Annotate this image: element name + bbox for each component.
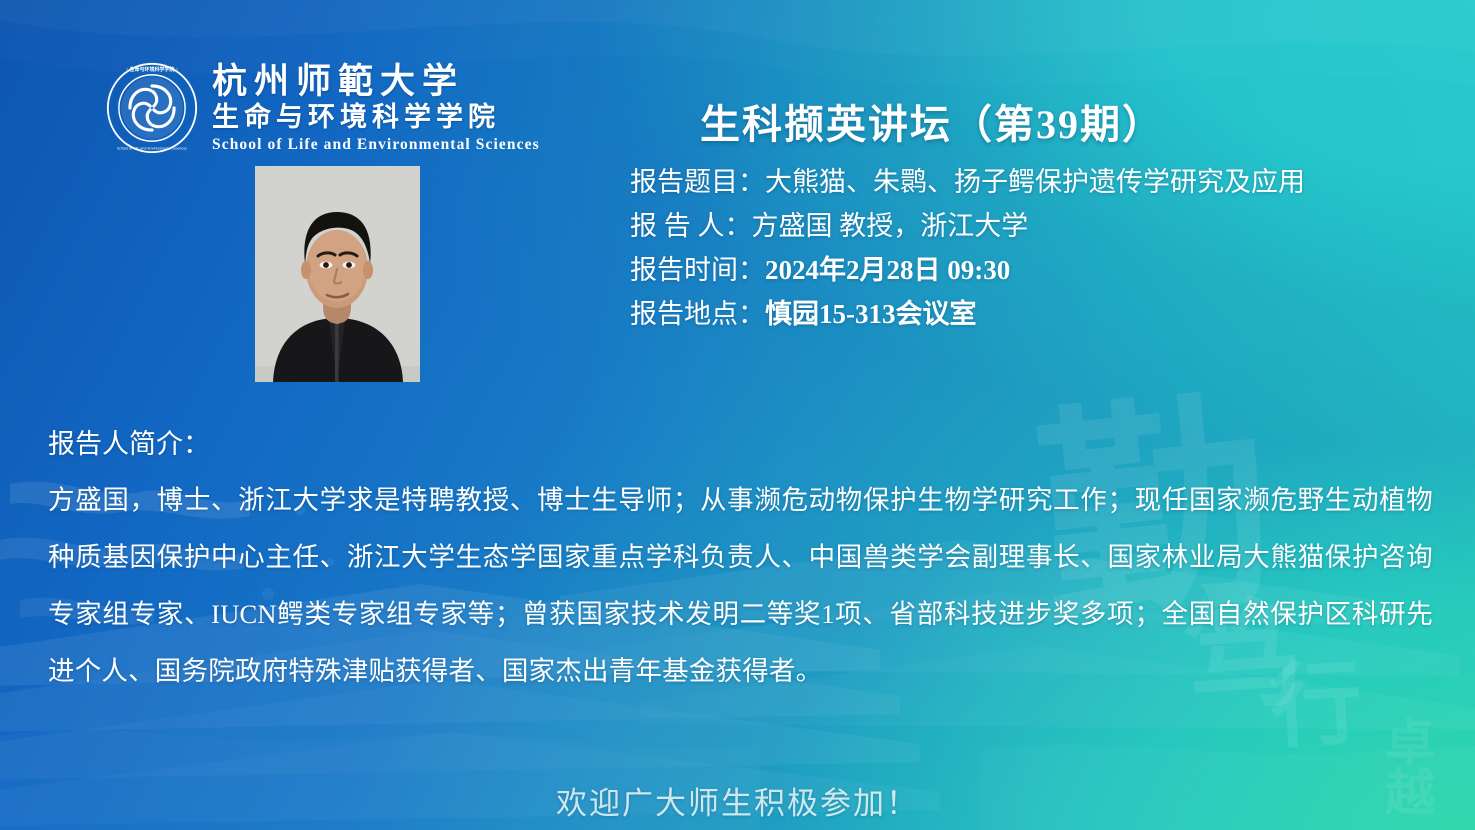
logo-university-name: 杭州师範大学 xyxy=(212,64,540,99)
info-label-location: 报告地点： xyxy=(630,299,765,329)
lecture-info: 报告题目：大熊猫、朱鹮、扬子鳄保护遗传学研究及应用 报 告 人：方盛国 教授，浙… xyxy=(630,160,1460,336)
svg-text:School of Life and Environment: School of Life and Environmental Science… xyxy=(117,146,187,150)
info-label-speaker: 报 告 人： xyxy=(630,211,752,241)
logo-school-name-en: School of Life and Environmental Science… xyxy=(212,137,540,153)
info-value-speaker: 方盛国 教授，浙江大学 xyxy=(752,211,1029,241)
bio-heading: 报告人简介： xyxy=(48,422,210,461)
svg-text:· 生命与环境科学学院 ·: · 生命与环境科学学院 · xyxy=(126,66,178,73)
info-row-topic: 报告题目：大熊猫、朱鹮、扬子鳄保护遗传学研究及应用 xyxy=(630,160,1460,204)
logo-school-name: 生命与环境科学学院 xyxy=(212,104,540,131)
bio-text: 方盛国，博士、浙江大学求是特聘教授、博士生导师；从事濒危动物保护生物学研究工作；… xyxy=(48,472,1433,700)
info-value-time: 2024年2月28日 09:30 xyxy=(765,255,1010,285)
school-seal-icon: · 生命与环境科学学院 · School of Life and Environ… xyxy=(106,62,198,154)
speaker-portrait xyxy=(255,166,420,382)
page-title: 生科撷英讲坛（第39期） xyxy=(700,92,1164,150)
info-row-location: 报告地点：慎园15-313会议室 xyxy=(630,292,1460,336)
info-label-topic: 报告题目： xyxy=(630,167,765,197)
info-label-time: 报告时间： xyxy=(630,255,765,285)
info-value-topic: 大熊猫、朱鹮、扬子鳄保护遗传学研究及应用 xyxy=(765,167,1305,197)
poster-canvas: 勤 笃 行 卓 越 · 生命与环境科学学院 · School of Lif xyxy=(0,0,1475,830)
info-row-time: 报告时间：2024年2月28日 09:30 xyxy=(630,248,1460,292)
university-logo: · 生命与环境科学学院 · School of Life and Environ… xyxy=(106,62,540,154)
info-row-speaker: 报 告 人：方盛国 教授，浙江大学 xyxy=(630,204,1460,248)
welcome-message: 欢迎广大师生积极参加！ xyxy=(0,778,1475,823)
info-value-location: 慎园15-313会议室 xyxy=(765,299,977,329)
